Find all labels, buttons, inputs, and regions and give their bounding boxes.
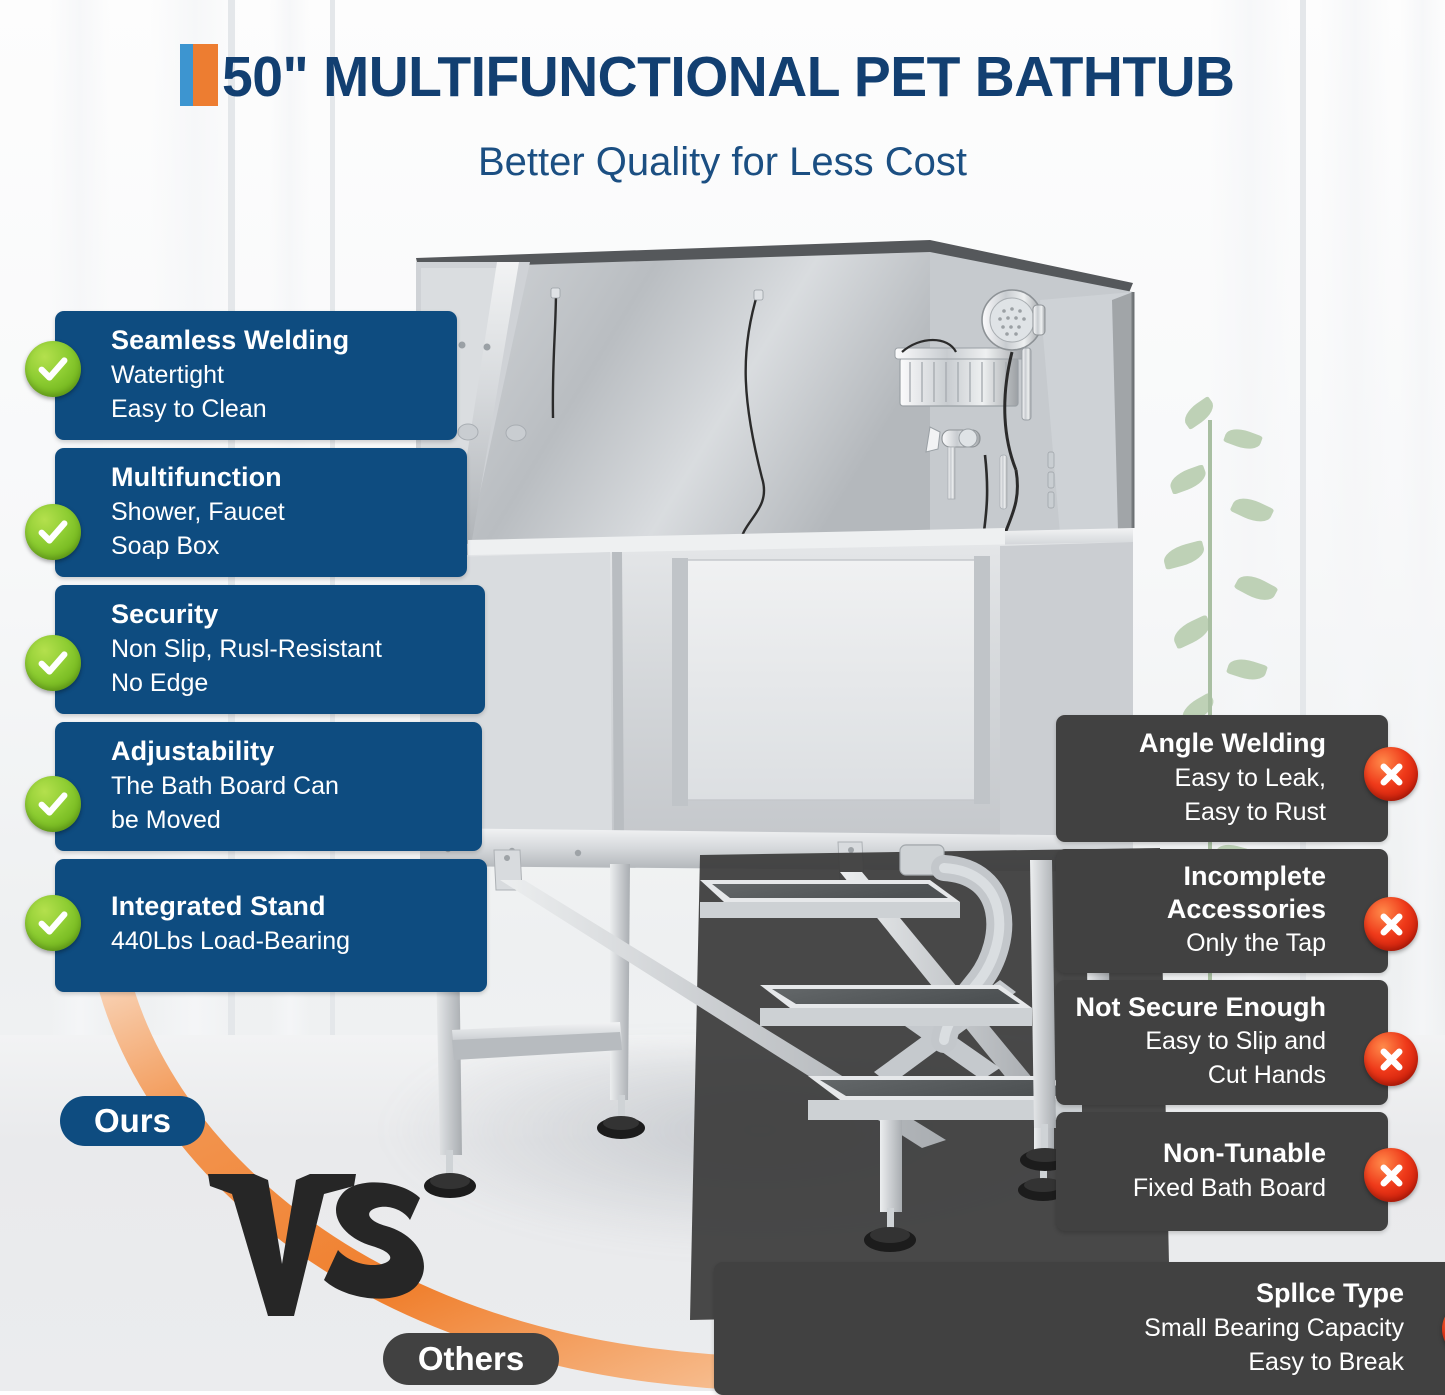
pro-item-security[interactable]: Security Non Slip, Rusl-Resistant No Edg… [55, 585, 485, 714]
pro-line: be Moved [111, 803, 466, 837]
ours-badge: Ours [60, 1096, 205, 1146]
con-item-non-tunable[interactable]: Non-Tunable Fixed Bath Board [1056, 1112, 1388, 1231]
vs-label [206, 1168, 426, 1318]
cross-icon [1364, 1032, 1418, 1086]
con-line: Easy to Break [730, 1345, 1404, 1379]
cons-list: Angle Welding Easy to Leak, Easy to Rust… [1056, 715, 1388, 1238]
pro-line: Non Slip, Rusl-Resistant [111, 632, 469, 666]
con-line: Easy to Rust [1072, 795, 1326, 829]
pro-item-integrated-stand[interactable]: Integrated Stand 440Lbs Load-Bearing [55, 859, 487, 992]
page-subtitle: Better Quality for Less Cost [0, 140, 1445, 185]
con-item-incomplete-accessories[interactable]: Incomplete Accessories Only the Tap [1056, 849, 1388, 973]
check-icon [25, 504, 81, 560]
check-icon [25, 776, 81, 832]
pro-line: No Edge [111, 666, 469, 700]
pro-line: 440Lbs Load-Bearing [111, 924, 471, 958]
check-icon [25, 341, 81, 397]
pro-item-seamless-welding[interactable]: Seamless Welding Watertight Easy to Clea… [55, 311, 457, 440]
check-icon [25, 895, 81, 951]
check-icon [25, 635, 81, 691]
con-item-spllce-type[interactable]: Spllce Type Small Bearing Capacity Easy … [714, 1262, 1445, 1395]
accent-bar-blue [180, 44, 193, 106]
title-accent-bars [180, 44, 218, 106]
pro-line: The Bath Board Can [111, 769, 466, 803]
con-line: Small Bearing Capacity [730, 1311, 1404, 1345]
pro-title: Seamless Welding [111, 323, 441, 358]
con-line: Only the Tap [1072, 926, 1326, 960]
page-title: 50" MULTIFUNCTIONAL PET BATHTUB [222, 46, 1235, 108]
pro-title: Multifunction [111, 460, 451, 495]
pro-line: Shower, Faucet [111, 495, 451, 529]
pro-item-multifunction[interactable]: Multifunction Shower, Faucet Soap Box [55, 448, 467, 577]
pro-title: Integrated Stand [111, 889, 471, 924]
con-line: Cut Hands [1072, 1058, 1326, 1092]
con-title: Spllce Type [730, 1276, 1404, 1311]
pro-line: Soap Box [111, 529, 451, 563]
cross-icon [1364, 747, 1418, 801]
pro-title: Security [111, 597, 469, 632]
con-title: Angle Welding [1072, 726, 1326, 761]
pro-title: Adjustability [111, 734, 466, 769]
pro-line: Easy to Clean [111, 392, 441, 426]
con-title: Not Secure Enough [1072, 991, 1326, 1024]
pro-item-adjustability[interactable]: Adjustability The Bath Board Can be Move… [55, 722, 482, 851]
cross-icon [1364, 1148, 1418, 1202]
con-title: Incomplete Accessories [1072, 860, 1326, 926]
accent-bar-orange [193, 44, 218, 106]
cross-icon [1364, 897, 1418, 951]
con-title: Non-Tunable [1072, 1136, 1326, 1171]
con-line: Fixed Bath Board [1072, 1171, 1326, 1205]
con-line: Easy to Slip and [1072, 1024, 1326, 1058]
page-header: 50" MULTIFUNCTIONAL PET BATHTUB [0, 44, 1445, 108]
pros-list: Seamless Welding Watertight Easy to Clea… [55, 311, 455, 1000]
con-line: Easy to Leak, [1072, 761, 1326, 795]
bath-board [680, 560, 980, 800]
pro-line: Watertight [111, 358, 441, 392]
con-item-angle-welding[interactable]: Angle Welding Easy to Leak, Easy to Rust [1056, 715, 1388, 842]
con-item-not-secure-enough[interactable]: Not Secure Enough Easy to Slip and Cut H… [1056, 980, 1388, 1105]
others-badge: Others [383, 1333, 559, 1385]
